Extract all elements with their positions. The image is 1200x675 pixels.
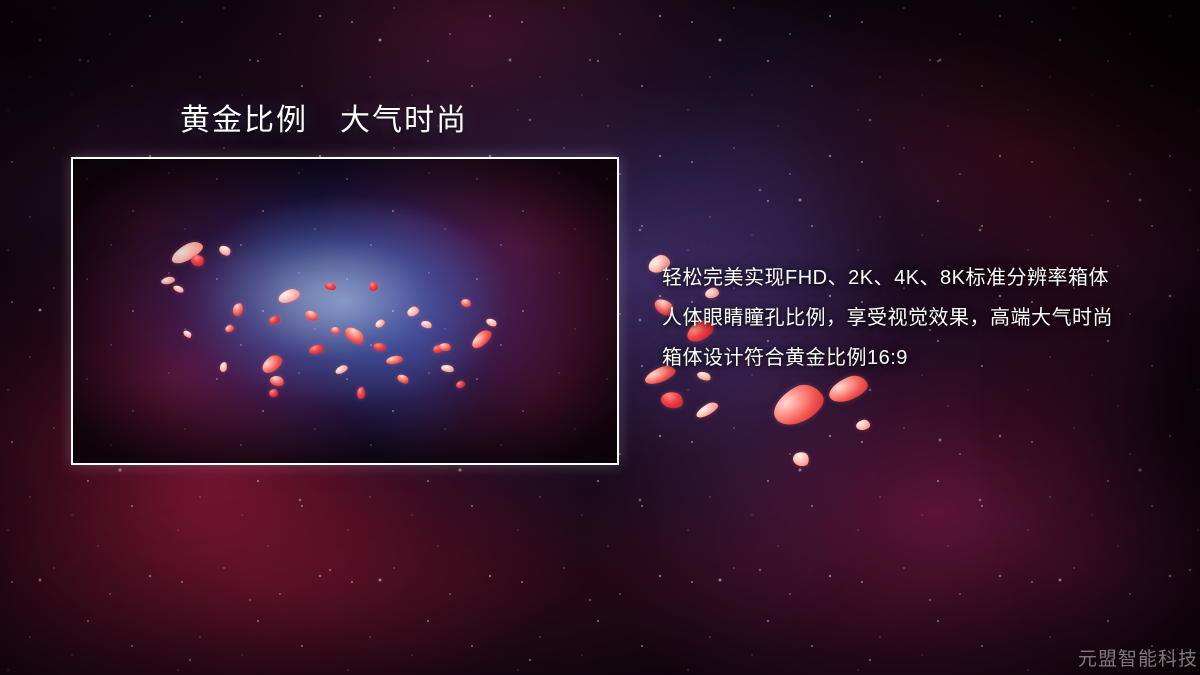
petal: [694, 400, 720, 421]
description-line-1: 轻松完美实现FHD、2K、4K、8K标准分辨率箱体: [662, 258, 1162, 298]
watermark: 元盟智能科技: [1078, 648, 1200, 672]
display-preview-frame[interactable]: [71, 157, 619, 465]
screen-vignette: [73, 159, 617, 463]
petal: [767, 378, 829, 432]
petal: [791, 450, 810, 468]
description-line-3: 箱体设计符合黄金比例16:9: [662, 338, 1162, 378]
petal: [660, 390, 684, 410]
description-line-2: 人体眼睛瞳孔比例，享受视觉效果，高端大气时尚: [662, 298, 1162, 338]
display-preview-content: [73, 159, 617, 463]
presentation-slide: 黄金比例 大气时尚 轻松完美实现FHD、2K、4K、8K标准分辨率箱体 人体眼睛…: [0, 0, 1200, 675]
page-title: 黄金比例 大气时尚: [180, 102, 468, 140]
description-block: 轻松完美实现FHD、2K、4K、8K标准分辨率箱体 人体眼睛瞳孔比例，享受视觉效…: [662, 258, 1162, 378]
petal: [855, 419, 871, 431]
